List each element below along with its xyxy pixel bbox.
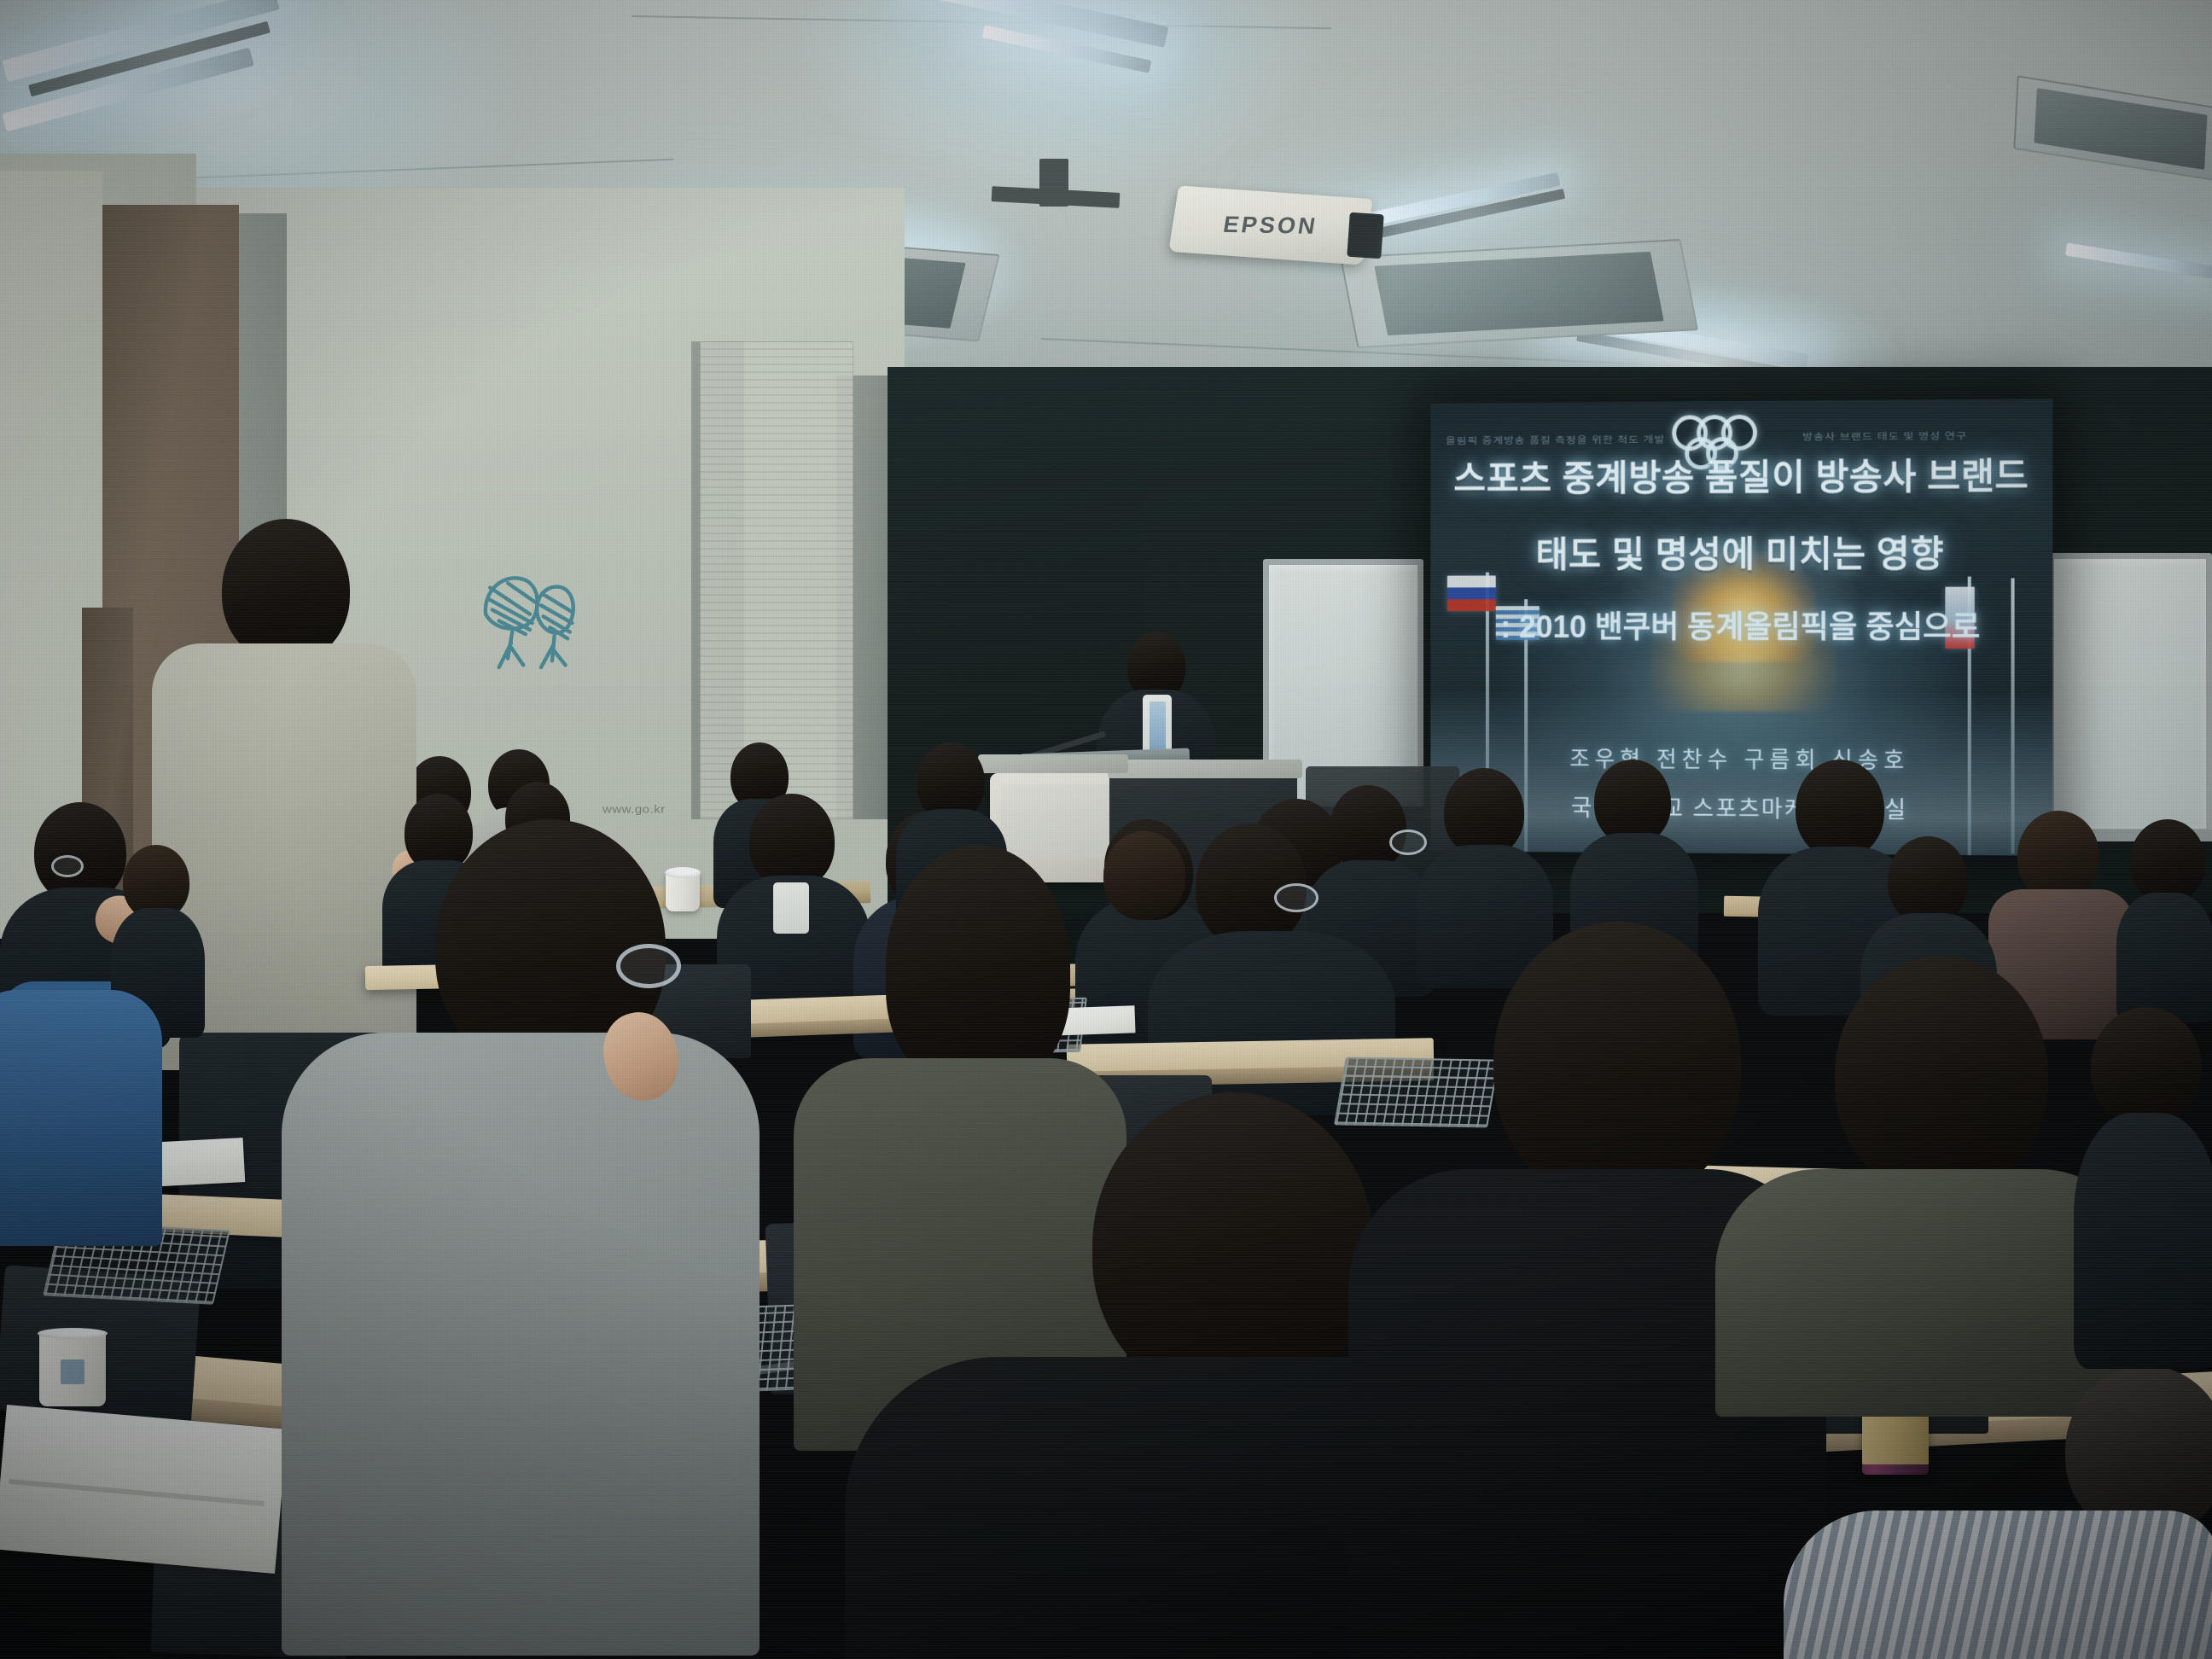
attendee-head <box>2017 811 2099 901</box>
foreground-attendee-jacket <box>282 1033 760 1656</box>
foreground-attendee-head <box>886 845 1070 1087</box>
conference-room-scene: EPSON <box>0 0 2212 1659</box>
attendee-right-edge <box>2074 1007 2212 1365</box>
slide-microtext-right: 방송사 브랜드 태도 및 명성 연구 <box>1802 428 1967 443</box>
foreground-attendee-shirt <box>1784 1511 2212 1659</box>
slide-title-line2: 태도 및 명성에 미치는 영향 <box>1430 524 2052 578</box>
slide-microtext-left: 올림픽 중계방송 품질 측정을 위한 척도 개발 <box>1446 432 1665 446</box>
projector-icon: EPSON <box>1168 185 1373 265</box>
foreground-attendee-striped <box>1784 1476 2212 1659</box>
wall-url-text: www.go.kr <box>602 803 666 815</box>
glasses-icon <box>51 855 84 877</box>
slide-subtitle: : 2010 밴쿠버 동계올림픽을 중심으로 <box>1430 602 2052 648</box>
attendee-head <box>1444 768 1524 857</box>
attendee-torso <box>0 990 162 1246</box>
foreground-attendee-head <box>1092 1092 1374 1400</box>
foreground-attendee-head <box>1493 922 1741 1203</box>
foreground-attendee-head <box>1835 956 2048 1195</box>
av-rack-top <box>1108 760 1302 778</box>
whiteboard-right <box>2048 553 2212 835</box>
attendee-head <box>1888 836 1968 925</box>
bottle-label-band <box>1862 1412 1929 1464</box>
glasses-icon <box>616 944 681 988</box>
attendee-head <box>2091 1007 2202 1126</box>
attendee-head <box>1594 760 1671 845</box>
foreground-attendee-left <box>282 819 760 1656</box>
attendee-torso <box>2074 1113 2212 1369</box>
projector-brand-label: EPSON <box>1221 212 1319 240</box>
tree-logo-icon <box>474 563 585 678</box>
air-conditioner-unit <box>1340 239 1698 348</box>
standing-attendee-head <box>222 519 350 662</box>
cup-logo-icon <box>61 1359 84 1384</box>
paper-cup <box>39 1333 106 1406</box>
slide-title-line1: 스포츠 중계방송 품질이 방송사 브랜드 <box>1430 446 2052 502</box>
glasses-icon <box>1274 883 1318 912</box>
attendee-head <box>2130 819 2205 903</box>
attendee-left-edge <box>0 888 162 1246</box>
projector-lens-icon <box>1347 212 1384 259</box>
handout-paper-open <box>0 1405 288 1574</box>
